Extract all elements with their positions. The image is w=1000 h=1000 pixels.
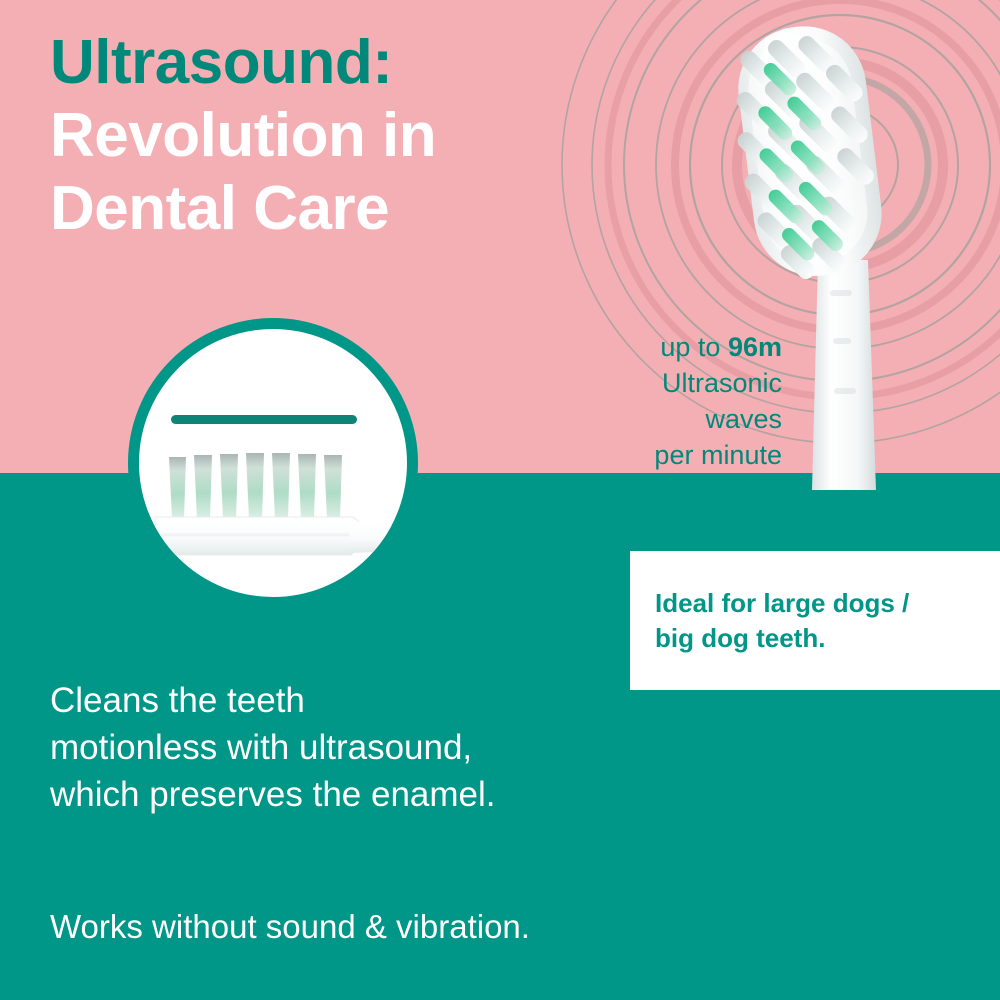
stat-value: 96m [728, 332, 782, 362]
callout-line-2: big dog teeth. [655, 621, 988, 656]
headline-line-2: Revolution in [50, 99, 570, 172]
footnote-text: Works without sound & vibration. [50, 908, 530, 946]
headline-line-1: Ultrasound: [50, 26, 570, 99]
body-copy-block: Cleans the teeth motionless with ultraso… [50, 678, 670, 819]
stat-line-2: Ultrasonic [654, 366, 782, 402]
ultrasonic-stat-block: up to 96m Ultrasonic waves per minute [654, 330, 782, 474]
stat-line-1: up to 96m [654, 330, 782, 366]
callout-box: Ideal for large dogs / big dog teeth. [630, 551, 1000, 690]
stat-line-3: waves [654, 402, 782, 438]
flat-trim-level-line [171, 415, 357, 424]
poster-canvas: Ultrasound: Revolution in Dental Care up… [0, 0, 1000, 1000]
bristle-tufts [169, 453, 342, 519]
headline-block: Ultrasound: Revolution in Dental Care [50, 26, 570, 245]
body-line-1: Cleans the teeth [50, 678, 670, 725]
body-line-2: motionless with ultrasound, [50, 725, 670, 772]
stat-line-4: per minute [654, 438, 782, 474]
callout-line-1: Ideal for large dogs / [655, 586, 988, 621]
headline-line-3: Dental Care [50, 172, 570, 245]
body-line-3: which preserves the enamel. [50, 772, 670, 819]
stat-prefix: up to [660, 332, 728, 362]
bristle-detail-inset [128, 318, 418, 608]
